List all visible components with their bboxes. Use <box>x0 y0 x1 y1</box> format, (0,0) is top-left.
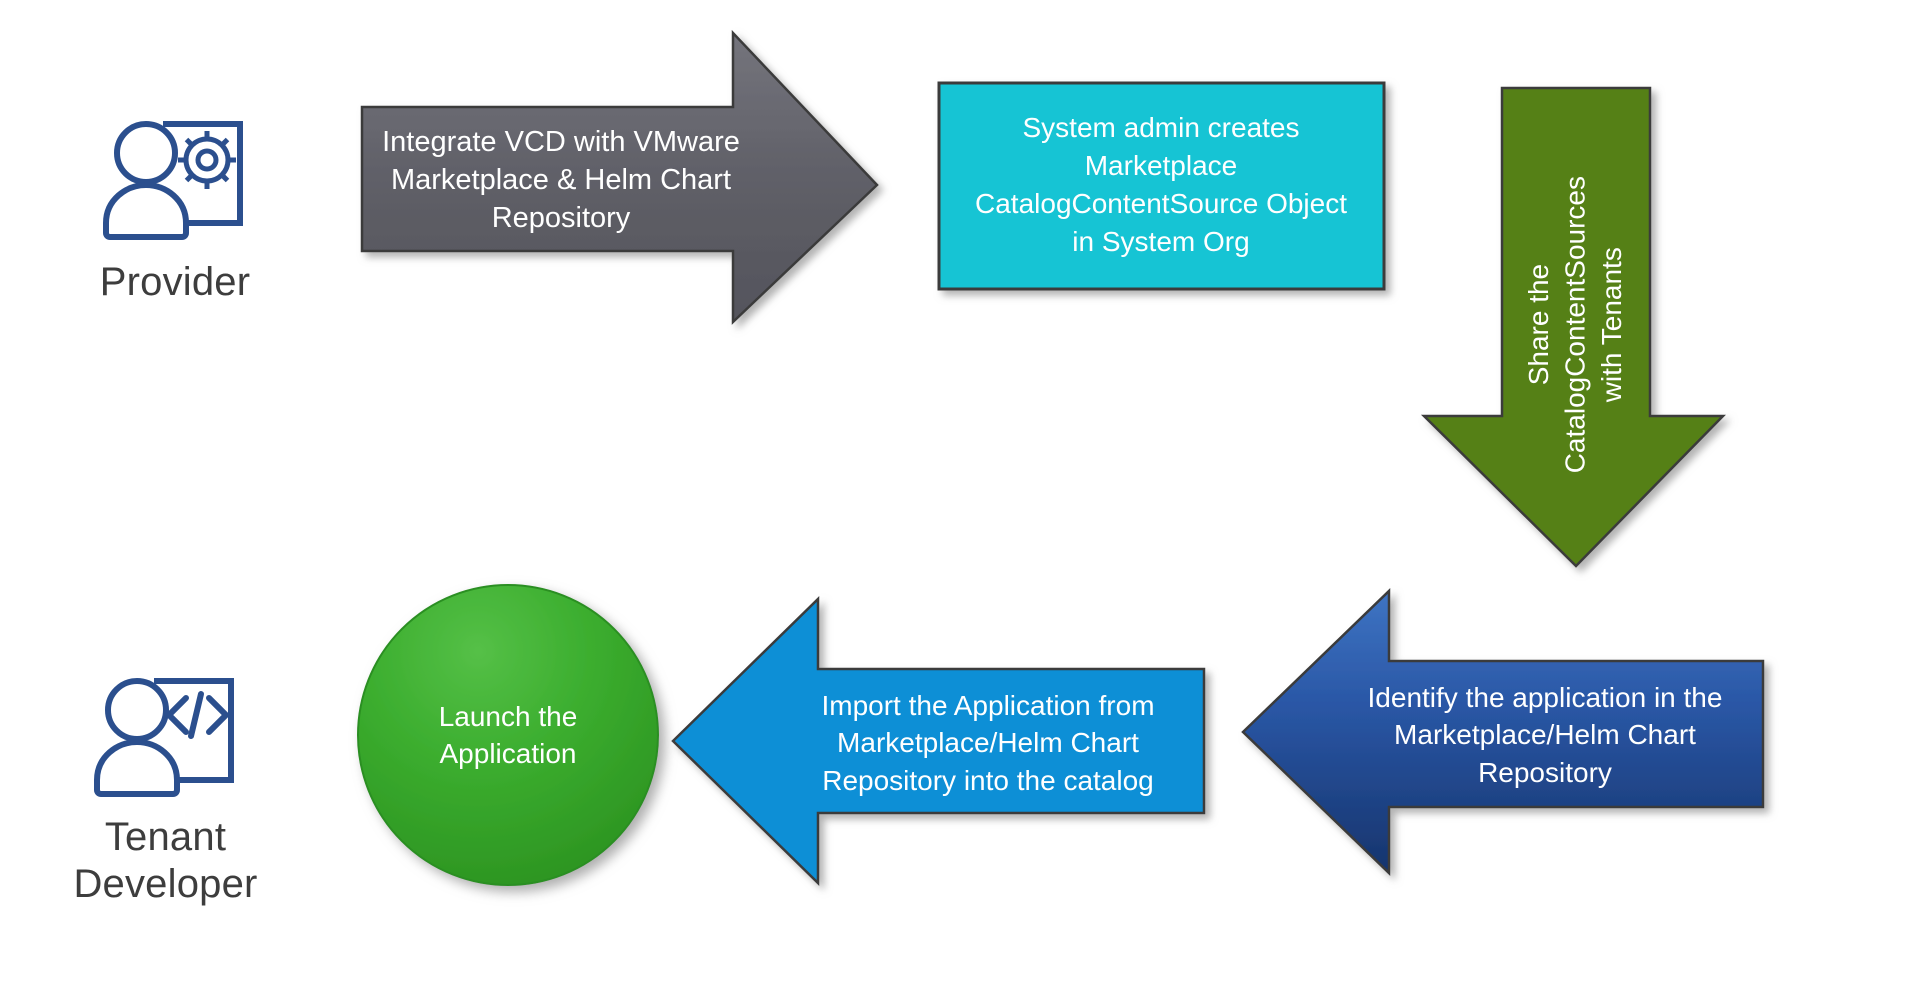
step-integrate-vcd-shape[interactable] <box>355 25 895 345</box>
step-launch-application-shape[interactable] <box>350 582 670 897</box>
persona-tenant-developer: Tenant Developer <box>48 672 283 908</box>
persona-provider: Provider <box>60 115 290 306</box>
persona-tenant-developer-label: Tenant Developer <box>73 814 257 908</box>
step-share-ccs-with-tenants-shape[interactable] <box>1412 80 1752 580</box>
user-code-icon <box>91 672 241 802</box>
step-identify-application-shape[interactable] <box>1236 583 1776 898</box>
persona-provider-label: Provider <box>100 259 251 306</box>
user-gear-icon <box>100 115 250 245</box>
step-system-admin-creates-ccs-shape[interactable] <box>932 76 1402 301</box>
step-import-application-shape[interactable] <box>666 591 1216 906</box>
diagram-canvas: Provider Tenant Developer <box>0 0 1930 982</box>
